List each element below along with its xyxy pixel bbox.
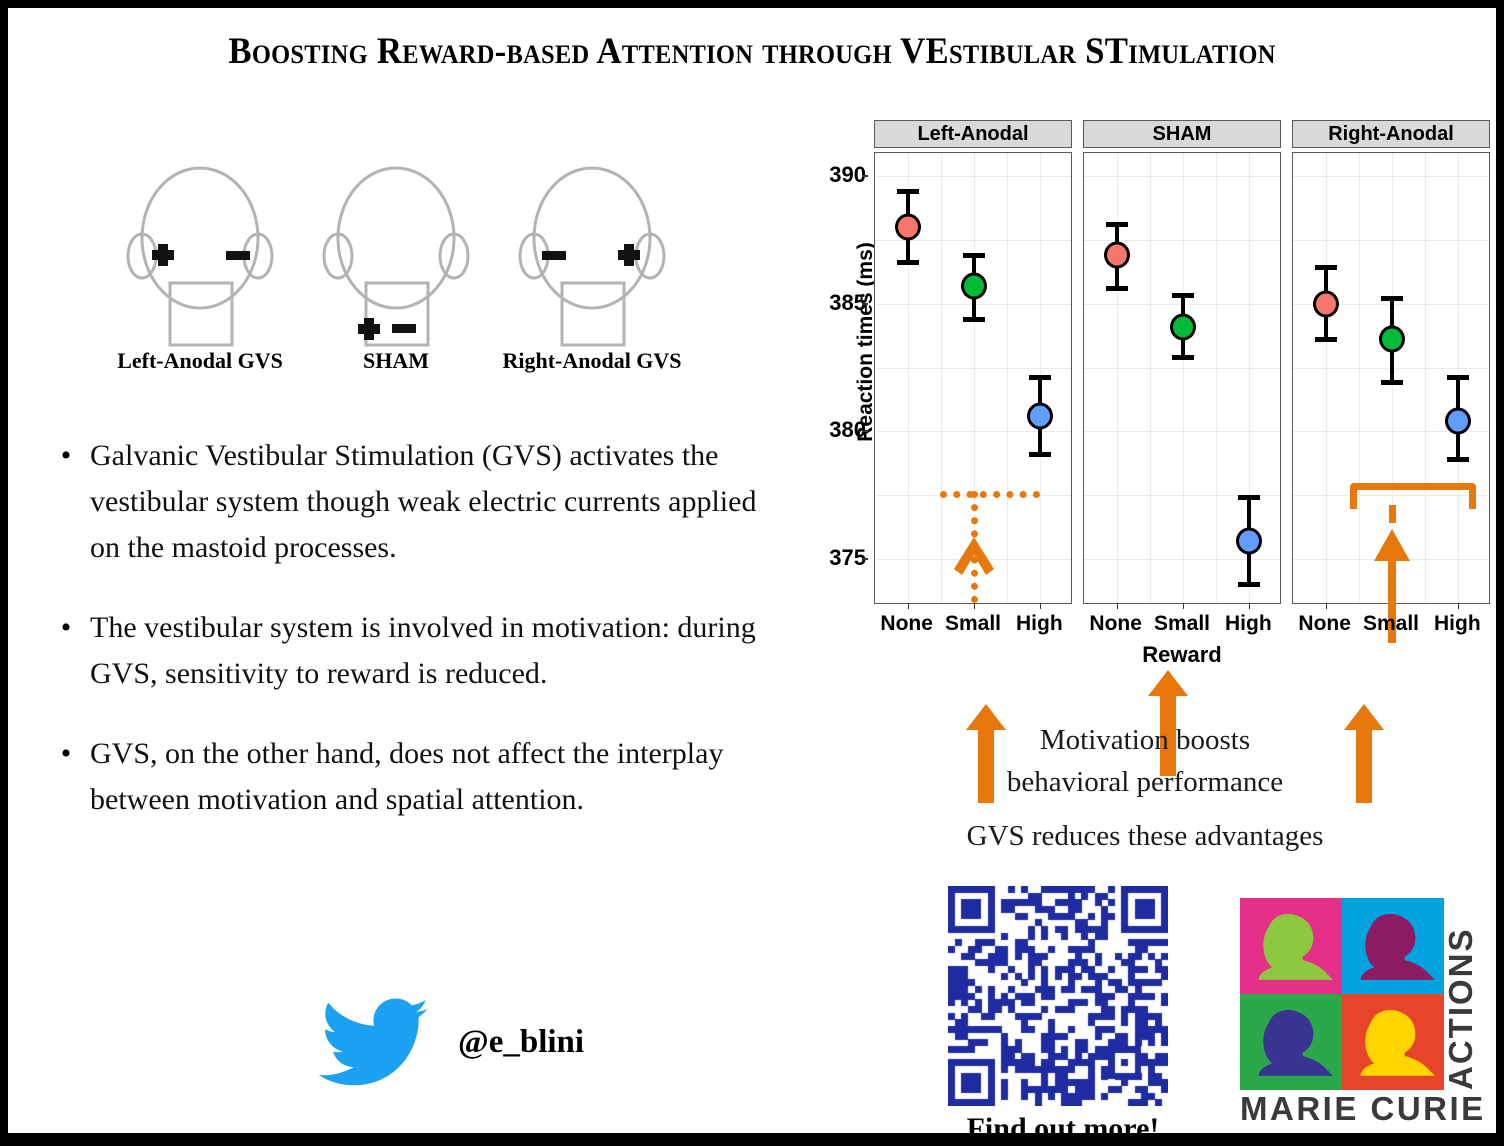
annotation-caption-line-1: Motivation boosts: [800, 724, 1490, 757]
annotation-arrowhead-dotted: [951, 535, 997, 577]
center-arrow-icon: [1148, 670, 1188, 776]
x-axis-tick-label: Small: [1363, 612, 1419, 636]
bullet-marker: •: [42, 605, 90, 697]
x-axis-tick-mark: [1458, 603, 1459, 609]
bullet-marker: •: [42, 731, 90, 823]
y-axis-ticks: 375380385390: [800, 120, 866, 590]
logo-quadrant-1: [1240, 898, 1342, 994]
x-axis-tick-label: None: [880, 612, 933, 636]
marie-curie-actions-logo: MARIE CURIE ACTIONS: [1236, 892, 1488, 1130]
y-axis-tick-label: 390: [808, 168, 866, 182]
data-point-high[interactable]: [1236, 528, 1262, 555]
cathode-electrode-minus-icon: [542, 251, 566, 260]
y-axis-tick-mark: [862, 303, 868, 305]
social-handle-text[interactable]: @e_blini: [458, 1024, 584, 1061]
error-bar-cap-upper: [1106, 222, 1128, 227]
panel-strip-label: SHAM: [1083, 120, 1281, 148]
gridline-vertical: [1326, 153, 1327, 603]
x-axis-tick-labels: NoneSmallHigh: [1083, 612, 1281, 642]
list-item: • Galvanic Vestibular Stimulation (GVS) …: [42, 433, 782, 571]
x-axis-tick-mark: [1326, 603, 1327, 609]
gridline-vertical: [1183, 153, 1184, 603]
gridline-vertical: [941, 153, 942, 603]
error-bar-cap-upper: [1172, 293, 1194, 298]
x-axis-tick-label: High: [1016, 612, 1063, 636]
error-bar-cap-lower: [1315, 337, 1337, 342]
x-axis-tick-label: None: [1089, 612, 1142, 636]
error-bar-cap-upper: [1447, 375, 1469, 380]
x-axis-tick-labels: NoneSmallHigh: [1292, 612, 1490, 642]
error-bar-cap-lower: [1381, 380, 1403, 385]
y-axis-tick-mark: [862, 558, 868, 560]
diagram-label: Right-Anodal GVS: [492, 348, 692, 374]
error-bar-cap-upper: [1381, 296, 1403, 301]
annotation-bracket-dotted: [940, 491, 1040, 498]
error-bar-cap-lower: [1029, 452, 1051, 457]
data-point-none[interactable]: [895, 214, 921, 241]
gridline-horizontal: [1084, 240, 1280, 241]
x-axis-tick-mark: [974, 603, 975, 609]
error-bar-cap-upper: [1315, 265, 1337, 270]
panel-plot-area: [874, 152, 1072, 604]
y-axis-tick-label: 380: [808, 423, 866, 437]
x-axis-tick-mark: [908, 603, 909, 609]
cathode-electrode-minus-icon: [392, 324, 416, 333]
data-point-none[interactable]: [1104, 242, 1130, 269]
x-axis-tick-mark: [1249, 603, 1250, 609]
x-axis-tick-label: High: [1434, 612, 1481, 636]
twitter-bird-icon[interactable]: [318, 996, 428, 1088]
qr-block[interactable]: Find out more!: [948, 886, 1178, 1146]
diagram-label: SHAM: [296, 348, 496, 374]
bullet-text: GVS, on the other hand, does not affect …: [90, 731, 782, 823]
error-bar-cap-upper: [897, 189, 919, 194]
chart-annotations: Motivation boosts behavioral performance…: [800, 658, 1490, 868]
panel-strip-label: Right-Anodal: [1292, 120, 1490, 148]
data-point-small[interactable]: [1379, 326, 1405, 353]
x-axis-tick-label: None: [1298, 612, 1351, 636]
head-outline-left-anodal: [100, 158, 300, 348]
chart-panels: Left-AnodalNoneSmallHighSHAMNoneSmallHig…: [874, 120, 1490, 620]
data-point-small[interactable]: [961, 272, 987, 299]
chart-panel-left-anodal: Left-AnodalNoneSmallHigh: [874, 120, 1072, 620]
bullet-marker: •: [42, 433, 90, 571]
gridline-vertical: [1007, 153, 1008, 603]
diagram-left-anodal: Left-Anodal GVS: [100, 158, 300, 374]
gridline-vertical: [1359, 153, 1360, 603]
diagram-label: Left-Anodal GVS: [100, 348, 300, 374]
error-bar-cap-lower: [897, 260, 919, 265]
bullet-text: Galvanic Vestibular Stimulation (GVS) ac…: [90, 433, 782, 571]
annotation-caption-line-2: behavioral performance: [800, 766, 1490, 799]
head-outline-sham: [296, 158, 496, 348]
annotation-bracket-solid: [1350, 483, 1476, 509]
bullet-text: The vestibular system is involved in mot…: [90, 605, 782, 697]
x-axis-tick-label: High: [1225, 612, 1272, 636]
logo-quadrant-4: [1342, 994, 1444, 1090]
x-axis-tick-mark: [1183, 603, 1184, 609]
gridline-horizontal: [1293, 240, 1489, 241]
qr-code-image[interactable]: [948, 886, 1168, 1106]
gridline-horizontal: [1084, 368, 1280, 369]
data-point-none[interactable]: [1313, 290, 1339, 317]
x-axis-tick-label: Small: [1154, 612, 1210, 636]
data-point-small[interactable]: [1170, 313, 1196, 340]
list-item: • GVS, on the other hand, does not affec…: [42, 731, 782, 823]
y-axis-tick-mark: [862, 430, 868, 432]
gridline-vertical: [1117, 153, 1118, 603]
poster-canvas: Boosting Reward-based Attention through …: [8, 8, 1496, 1133]
stimulation-diagrams: Left-Anodal GVS SHAM: [68, 158, 768, 388]
data-point-high[interactable]: [1027, 403, 1053, 430]
gridline-horizontal: [1084, 176, 1280, 177]
gridline-horizontal: [1084, 431, 1280, 432]
error-bar-cap-lower: [1106, 286, 1128, 291]
gridline-vertical: [1425, 153, 1426, 603]
gridline-horizontal: [875, 176, 1071, 177]
logo-quadrant-2: [1342, 898, 1444, 994]
panel-plot-area: [1083, 152, 1281, 604]
x-axis-tick-labels: NoneSmallHigh: [874, 612, 1072, 642]
y-axis-tick-mark: [862, 175, 868, 177]
gridline-horizontal: [1293, 176, 1489, 177]
anode-electrode-plus-icon: [358, 318, 380, 340]
x-axis-tick-mark: [1040, 603, 1041, 609]
logo-vertical-word: ACTIONS: [1442, 928, 1479, 1091]
bullet-list: • Galvanic Vestibular Stimulation (GVS) …: [42, 433, 782, 857]
chart-panel-right-anodal: Right-AnodalNoneSmallHigh: [1292, 120, 1490, 620]
error-bar-cap-upper: [1029, 375, 1051, 380]
social-handle-block[interactable]: @e_blini: [318, 996, 584, 1088]
error-bar-cap-lower: [1172, 355, 1194, 360]
cathode-electrode-minus-icon: [226, 251, 250, 260]
panel-strip-label: Left-Anodal: [874, 120, 1072, 148]
annotation-caption-bottom: GVS reduces these advantages: [800, 820, 1490, 853]
annotation-bracket-stem: [1389, 505, 1396, 523]
gridline-horizontal: [875, 368, 1071, 369]
page-title: Boosting Reward-based Attention through …: [53, 30, 1452, 73]
error-bar-cap-upper: [1238, 495, 1260, 500]
y-axis-tick-label: 385: [808, 296, 866, 310]
logo-graphic: MARIE CURIE ACTIONS: [1236, 892, 1488, 1130]
x-axis-tick-label: Small: [945, 612, 1001, 636]
data-point-high[interactable]: [1445, 408, 1471, 435]
error-bar-cap-upper: [963, 253, 985, 258]
x-axis-tick-mark: [1117, 603, 1118, 609]
reaction-times-chart: Reaction times (ms) 375380385390 Left-An…: [800, 120, 1490, 660]
error-bar-cap-lower: [1447, 457, 1469, 462]
head-outline-right-anodal: [492, 158, 692, 348]
panel-plot-area: [1292, 152, 1490, 604]
diagram-right-anodal: Right-Anodal GVS: [492, 158, 692, 374]
error-bar-cap-lower: [963, 317, 985, 322]
y-axis-tick-label: 375: [808, 551, 866, 565]
list-item: • The vestibular system is involved in m…: [42, 605, 782, 697]
diagram-sham: SHAM: [296, 158, 496, 374]
logo-quadrant-3: [1240, 994, 1342, 1090]
gridline-vertical: [1150, 153, 1151, 603]
error-bar-cap-lower: [1238, 582, 1260, 587]
logo-wordmark: MARIE CURIE: [1240, 1090, 1486, 1127]
chart-panel-sham: SHAMNoneSmallHigh: [1083, 120, 1281, 620]
gridline-vertical: [1216, 153, 1217, 603]
